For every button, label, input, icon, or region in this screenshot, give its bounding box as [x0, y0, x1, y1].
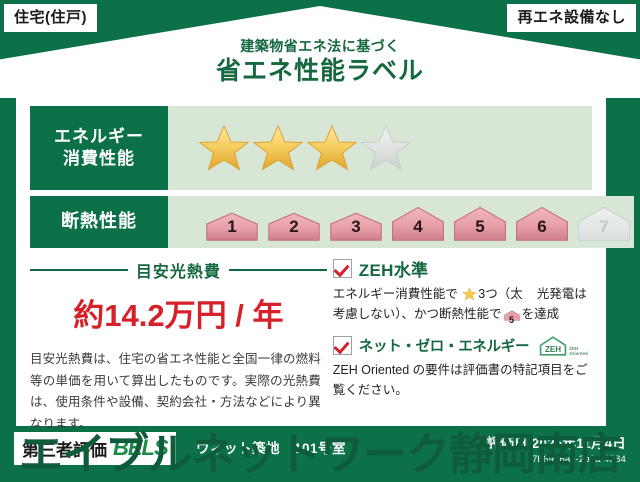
tag-renewable-equipment: 再エネ設備なし: [507, 4, 636, 32]
redaction-mark: [523, 287, 537, 299]
svg-text:ZEH: ZEH: [545, 344, 561, 353]
divider-left: [30, 269, 128, 271]
star-icon-inline: [462, 287, 477, 301]
zeh-standard-title: ZEH水準: [333, 256, 592, 281]
third-party-evaluation-badge: 第三者評価 BELS: [14, 432, 176, 465]
energy-label-line2: 消費性能: [63, 149, 135, 168]
lower-section: 目安光熱費 約14.2万円 / 年 目安光熱費は、住宅の省エネ性能と全国一律の燃…: [30, 256, 592, 416]
zeh-net-zero-block: ネット・ゼロ・エネルギー ZEH ZEHOriented ZEH Oriente…: [333, 335, 592, 401]
utility-cost-heading: 目安光熱費: [30, 258, 327, 282]
evaluation-info: 評価日 2025年11月4日 7b6956ac-2b9a-4884: [487, 432, 626, 465]
evaluation-id: 7b6956ac-2b9a-4884: [487, 454, 626, 465]
star-icon-filled-3: [306, 123, 358, 173]
checkbox-checked-icon-net-zero[interactable]: [333, 336, 352, 355]
zeh-standard-description: エネルギー消費性能で 3つ（太光発電は考慮しない）、かつ断熱性能で5を達成: [333, 284, 592, 329]
zeh-net-zero-description: ZEH Oriented の要件は評価書の特記項目をご覧ください。: [333, 360, 592, 401]
insulation-badge-inline: 5: [504, 308, 520, 328]
zeh-desc-part3: を達成: [522, 307, 560, 321]
evaluation-date: 評価日 2025年11月4日: [487, 432, 626, 452]
insulation-house-5: 5: [450, 202, 510, 242]
divider-right: [229, 269, 327, 271]
star-icon-filled-2: [252, 123, 304, 173]
zeh-standard-block: ZEH水準 エネルギー消費性能で 3つ（太光発電は考慮しない）、かつ断熱性能で5…: [333, 256, 592, 329]
zeh-net-zero-name: ネット・ゼロ・エネルギー: [359, 335, 529, 356]
zeh-desc-star: 3つ（太: [478, 287, 522, 301]
zeh-standard-name: ZEH水準: [359, 256, 429, 281]
star-icon-filled-1: [198, 123, 250, 173]
insulation-house-3: 3: [326, 206, 386, 242]
star-icon-empty-4: [360, 123, 412, 173]
label-card: エネルギー 消費性能: [16, 96, 606, 426]
insulation-house-4: 4: [388, 202, 448, 242]
bottom-bar: 第三者評価 BELS ウィット築地 101号室 評価日 2025年11月4日 7…: [0, 428, 640, 480]
tag-building-type: 住宅(住戸): [4, 4, 97, 32]
utility-cost-section: 目安光熱費 約14.2万円 / 年 目安光熱費は、住宅の省エネ性能と全国一律の燃…: [30, 256, 327, 416]
zeh-net-zero-title: ネット・ゼロ・エネルギー ZEH ZEHOriented: [333, 335, 592, 357]
energy-performance-row: エネルギー 消費性能: [30, 106, 592, 190]
checkbox-checked-icon-zeh-standard[interactable]: [333, 259, 352, 278]
label-title: 省エネ性能ラベル: [0, 57, 640, 86]
insulation-house-scale: 1 2 3 4: [202, 202, 634, 242]
utility-cost-note: 目安光熱費は、住宅の省エネ性能と全国一律の燃料等の単価を用いて算出したものです。…: [30, 349, 327, 435]
energy-label-root: 建築物省エネ法に基づく 省エネ性能ラベル 住宅(住戸) 再エネ設備なし エネルギ…: [0, 0, 640, 480]
energy-performance-label: エネルギー 消費性能: [30, 106, 168, 190]
zeh-section: ZEH水準 エネルギー消費性能で 3つ（太光発電は考慮しない）、かつ断熱性能で5…: [327, 256, 592, 416]
utility-cost-label: 目安光熱費: [136, 258, 221, 282]
property-name: ウィット築地 101号室: [196, 437, 346, 457]
energy-star-area: [168, 106, 592, 190]
label-subtitle: 建築物省エネ法に基づく: [0, 38, 640, 54]
bels-logo: BELS: [113, 435, 168, 461]
third-party-evaluation-label: 第三者評価: [22, 436, 107, 461]
insulation-badge-number: 5: [504, 313, 520, 328]
insulation-house-1: 1: [202, 206, 262, 242]
zeh-logo-icon: ZEH ZEHOriented: [538, 335, 588, 357]
zeh-desc-part1: エネルギー消費性能で: [333, 287, 458, 301]
energy-label-line1: エネルギー: [54, 127, 144, 146]
label-heading: 建築物省エネ法に基づく 省エネ性能ラベル: [0, 38, 640, 86]
insulation-house-6: 6: [512, 202, 572, 242]
utility-cost-value: 約14.2万円 / 年: [30, 290, 327, 335]
insulation-performance-label: 断熱性能: [30, 196, 168, 248]
insulation-house-7: 7: [574, 202, 634, 242]
insulation-house-2: 2: [264, 206, 324, 242]
insulation-house-area: 1 2 3 4: [168, 196, 634, 248]
zeh-logo-caption: ZEHOriented: [569, 347, 588, 357]
insulation-performance-row: 断熱性能 1: [30, 196, 592, 248]
